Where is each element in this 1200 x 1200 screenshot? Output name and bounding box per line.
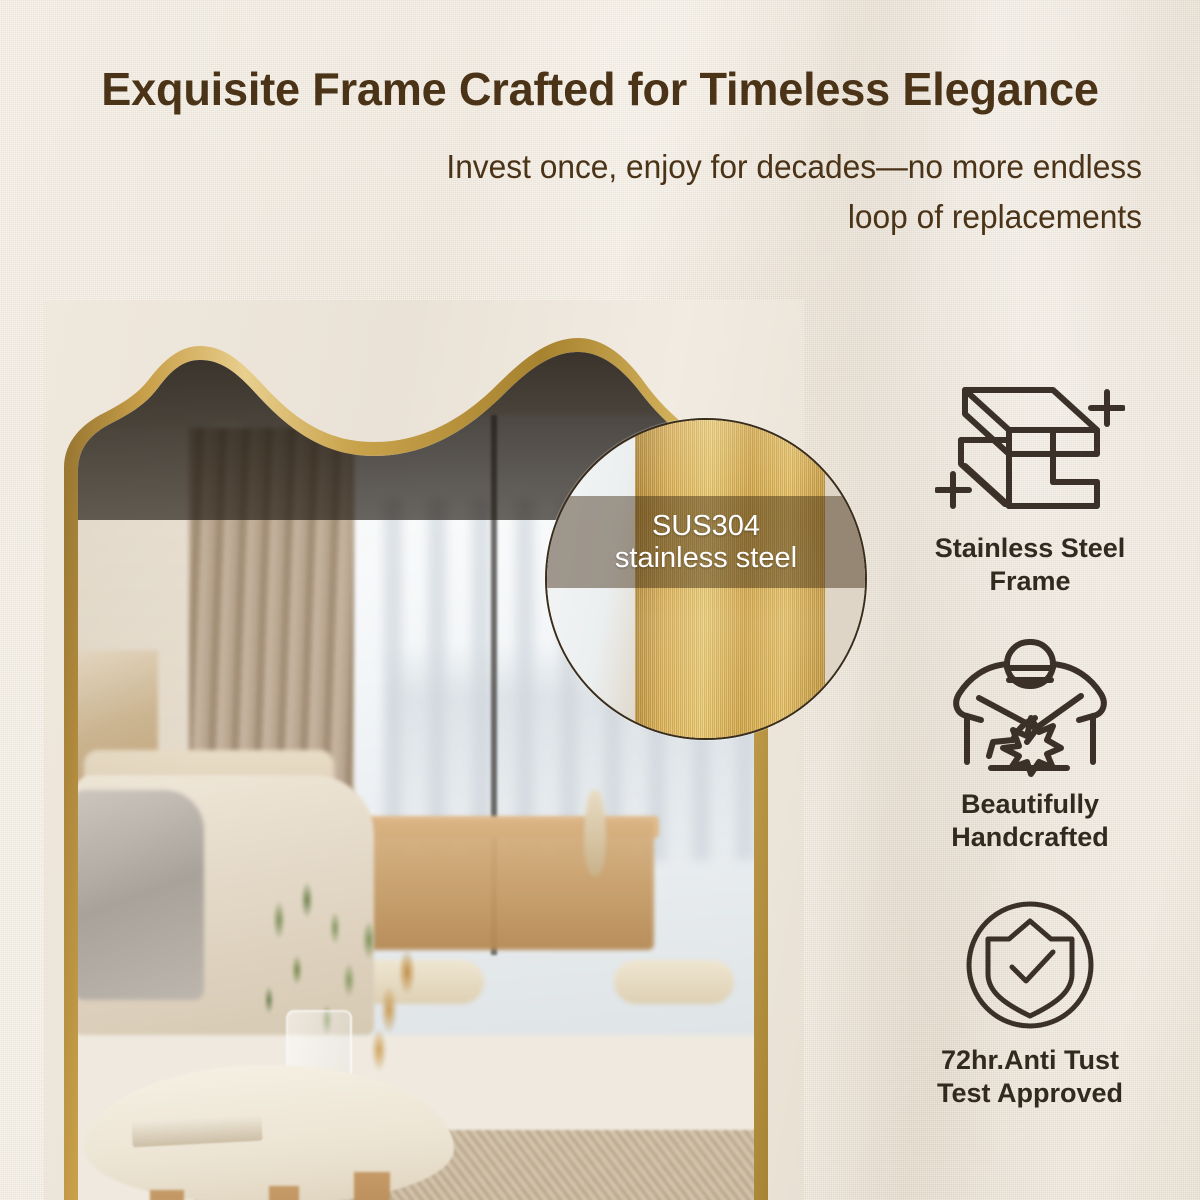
feature-beautifully-handcrafted: Beautifully Handcrafted <box>880 634 1180 854</box>
feature-stainless-steel-frame: Stainless Steel Frame <box>880 378 1180 598</box>
steel-beam-icon <box>880 378 1180 528</box>
feature-anti-rust-test: 72hr.Anti Tust Test Approved <box>880 890 1180 1110</box>
callout-line-2: stainless steel <box>615 542 797 574</box>
craftsman-welding-icon <box>880 634 1180 784</box>
subtitle-line-1: Invest once, enjoy for decades—no more e… <box>278 142 1142 192</box>
sus304-magnifier-callout: SUS304 stainless steel <box>545 418 867 740</box>
product-feature-banner: Exquisite Frame Crafted for Timeless Ele… <box>0 0 1200 1200</box>
feature-label-line-2: Frame <box>880 565 1180 598</box>
magnifier-caption-band: SUS304 stainless steel <box>547 496 865 588</box>
subtitle-line-2: loop of replacements <box>278 192 1142 242</box>
feature-label-line-1: 72hr.Anti Tust <box>880 1044 1180 1077</box>
feature-label: Stainless Steel Frame <box>880 532 1180 598</box>
feature-label-line-1: Stainless Steel <box>880 532 1180 565</box>
feature-label-line-2: Test Approved <box>880 1077 1180 1110</box>
feature-label-line-1: Beautifully <box>880 788 1180 821</box>
feature-label: Beautifully Handcrafted <box>880 788 1180 854</box>
feature-label-line-2: Handcrafted <box>880 821 1180 854</box>
page-title: Exquisite Frame Crafted for Timeless Ele… <box>12 62 1188 116</box>
page-subtitle: Invest once, enjoy for decades—no more e… <box>242 142 1142 242</box>
shield-check-icon <box>880 890 1180 1040</box>
feature-list: Stainless Steel Frame <box>880 378 1180 1110</box>
feature-label: 72hr.Anti Tust Test Approved <box>880 1044 1180 1110</box>
callout-line-1: SUS304 <box>652 510 760 542</box>
